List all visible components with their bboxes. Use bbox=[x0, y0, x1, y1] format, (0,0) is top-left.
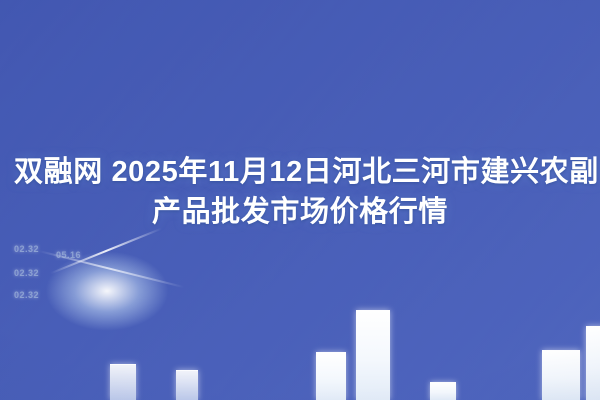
mini-ticker-label: 02.32 bbox=[14, 244, 39, 254]
chart-bar bbox=[430, 382, 456, 400]
mini-ticker-label: 02.32 bbox=[14, 268, 39, 278]
mini-ticker-label: 02.32 bbox=[14, 290, 39, 300]
chart-bar bbox=[316, 352, 346, 400]
headline-block: 双融网 2025年11月12日河北三河市建兴农副 产品批发市场价格行情 bbox=[0, 152, 600, 232]
chart-bar bbox=[356, 310, 390, 400]
chart-bar bbox=[110, 364, 136, 400]
chart-bar bbox=[586, 326, 600, 400]
headline-line-1: 双融网 2025年11月12日河北三河市建兴农副 bbox=[14, 152, 586, 192]
headline-line-2: 产品批发市场价格行情 bbox=[14, 192, 586, 232]
mini-ticker-label: 05.16 bbox=[56, 250, 81, 260]
chart-bar bbox=[542, 350, 580, 400]
price-quote-banner: -02.36-11.25+45.02-02.3621.54.25-50.02+4… bbox=[0, 0, 600, 400]
chart-bar bbox=[176, 370, 198, 400]
